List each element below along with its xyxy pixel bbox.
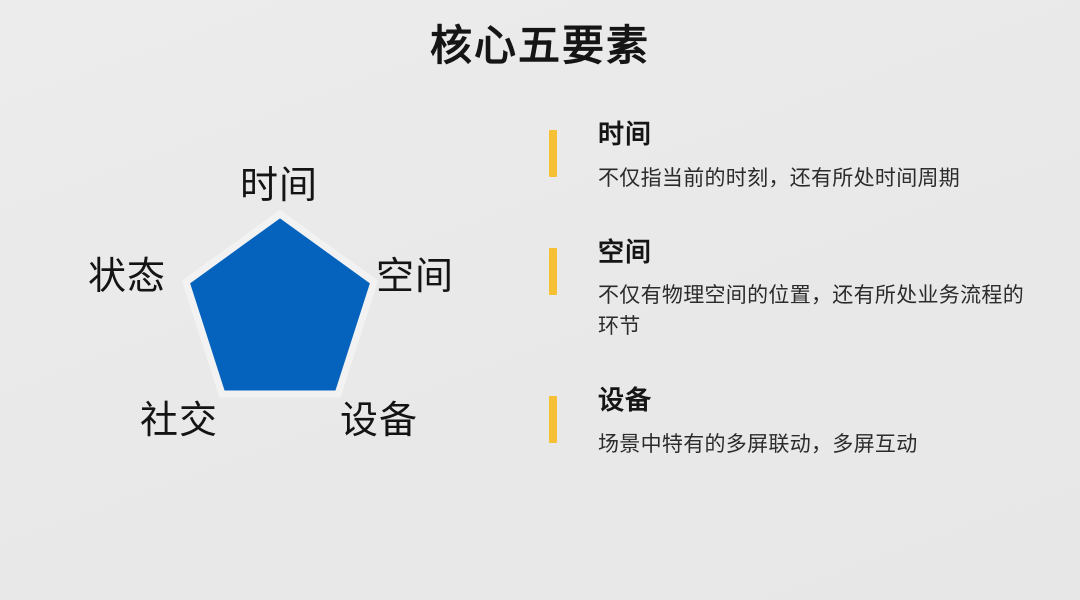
slide-root: 核心五要素 时间 空间 设备 社交 状态 时间 不仅指当前的时刻，还有所处时间周… (0, 0, 1080, 600)
list-item: 时间 不仅指当前的时刻，还有所处时间周期 (549, 120, 1039, 194)
diagram-node-social: 社交 (140, 402, 218, 440)
pentagon-polygon (186, 214, 374, 394)
detail-heading-device: 设备 (598, 386, 1039, 415)
accent-bar-icon (549, 130, 557, 177)
list-item: 空间 不仅有物理空间的位置，还有所处业务流程的环节 (549, 238, 1039, 343)
diagram-node-space: 空间 (376, 258, 454, 296)
list-item: 设备 场景中特有的多屏联动，多屏互动 (549, 386, 1039, 460)
pentagon-shape-icon (180, 208, 380, 408)
detail-heading-space: 空间 (598, 238, 1039, 267)
diagram-node-state: 状态 (88, 258, 166, 296)
accent-bar-icon (549, 396, 557, 443)
detail-body-time: 不仅指当前的时刻，还有所处时间周期 (598, 163, 1028, 194)
diagram-node-device: 设备 (340, 402, 418, 440)
pentagon-diagram: 时间 空间 设备 社交 状态 (40, 140, 510, 480)
detail-body-device: 场景中特有的多屏联动，多屏互动 (598, 429, 1028, 460)
detail-list: 时间 不仅指当前的时刻，还有所处时间周期 空间 不仅有物理空间的位置，还有所处业… (549, 120, 1039, 460)
diagram-node-time: 时间 (240, 167, 318, 205)
page-title: 核心五要素 (0, 20, 1080, 73)
detail-body-space: 不仅有物理空间的位置，还有所处业务流程的环节 (598, 280, 1028, 342)
accent-bar-icon (549, 248, 557, 295)
detail-heading-time: 时间 (598, 120, 1039, 149)
